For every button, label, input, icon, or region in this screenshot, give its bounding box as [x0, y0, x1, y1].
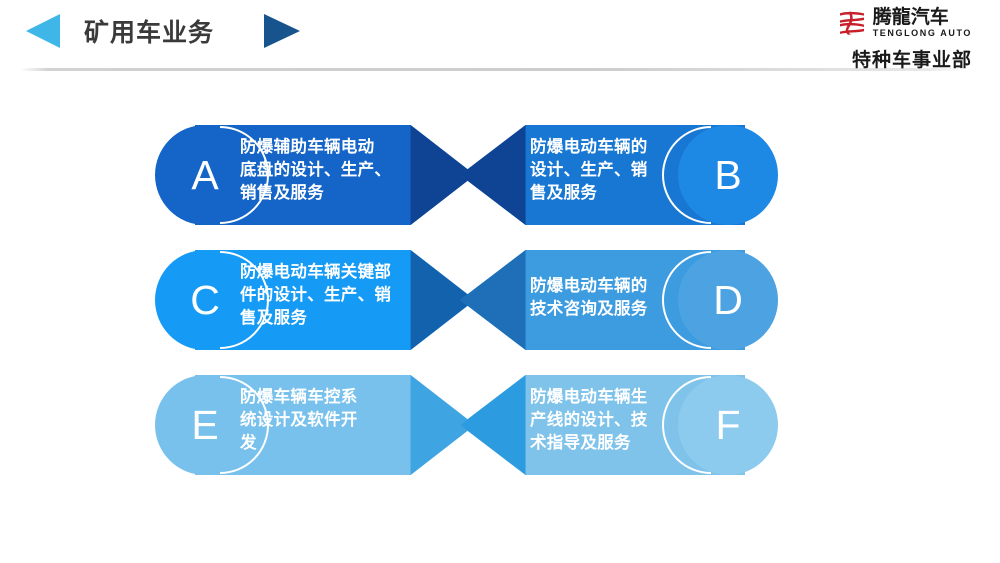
- logo-brand-en: TENGLONG AUTO: [873, 29, 972, 38]
- diagram-row: E 防爆车辆车控系 统设计及软件开 发 F 防爆电动车辆生 产线的设计、技 术指…: [0, 375, 1000, 475]
- page-title: 矿用车业务: [84, 13, 214, 49]
- item-text: 防爆电动车辆关键部 件的设计、生产、销 售及服务: [240, 261, 430, 329]
- diagram-item-d[interactable]: D 防爆电动车辆的 技术咨询及服务: [460, 250, 785, 350]
- diagram-row: C 防爆电动车辆关键部 件的设计、生产、销 售及服务 D 防爆电动车辆的 技术咨…: [0, 250, 1000, 350]
- item-text: 防爆电动车辆的 设计、生产、销 售及服务: [530, 136, 710, 204]
- business-scope-diagram: A 防爆辅助车辆电动 底盘的设计、生产、 销售及服务 B 防爆电动车辆的 设计、…: [0, 110, 1000, 500]
- logo-brand-cn: 腾龍汽车: [873, 8, 972, 27]
- item-text: 防爆电动车辆的 技术咨询及服务: [530, 275, 710, 321]
- diagram-item-f[interactable]: F 防爆电动车辆生 产线的设计、技 术指导及服务: [460, 375, 785, 475]
- diagram-row: A 防爆辅助车辆电动 底盘的设计、生产、 销售及服务 B 防爆电动车辆的 设计、…: [0, 125, 1000, 225]
- triangle-left-icon: [26, 14, 60, 48]
- diagram-item-e[interactable]: E 防爆车辆车控系 统设计及软件开 发: [155, 375, 475, 475]
- diagram-item-a[interactable]: A 防爆辅助车辆电动 底盘的设计、生产、 销售及服务: [155, 125, 475, 225]
- tenglong-s-mark-icon: [837, 10, 867, 36]
- logo-department: 特种车事业部: [792, 45, 972, 72]
- diagram-item-c[interactable]: C 防爆电动车辆关键部 件的设计、生产、销 售及服务: [155, 250, 475, 350]
- logo-row: 腾龍汽车 TENGLONG AUTO: [792, 6, 972, 40]
- item-text: 防爆辅助车辆电动 底盘的设计、生产、 销售及服务: [240, 136, 430, 204]
- diagram-item-b[interactable]: B 防爆电动车辆的 设计、生产、销 售及服务: [460, 125, 785, 225]
- logo-wordmark: 腾龍汽车 TENGLONG AUTO: [873, 8, 972, 38]
- triangle-right-icon: [264, 14, 300, 48]
- item-text: 防爆电动车辆生 产线的设计、技 术指导及服务: [530, 386, 710, 454]
- item-text: 防爆车辆车控系 统设计及软件开 发: [240, 386, 430, 454]
- brand-logo: 腾龍汽车 TENGLONG AUTO 特种车事业部: [792, 6, 972, 72]
